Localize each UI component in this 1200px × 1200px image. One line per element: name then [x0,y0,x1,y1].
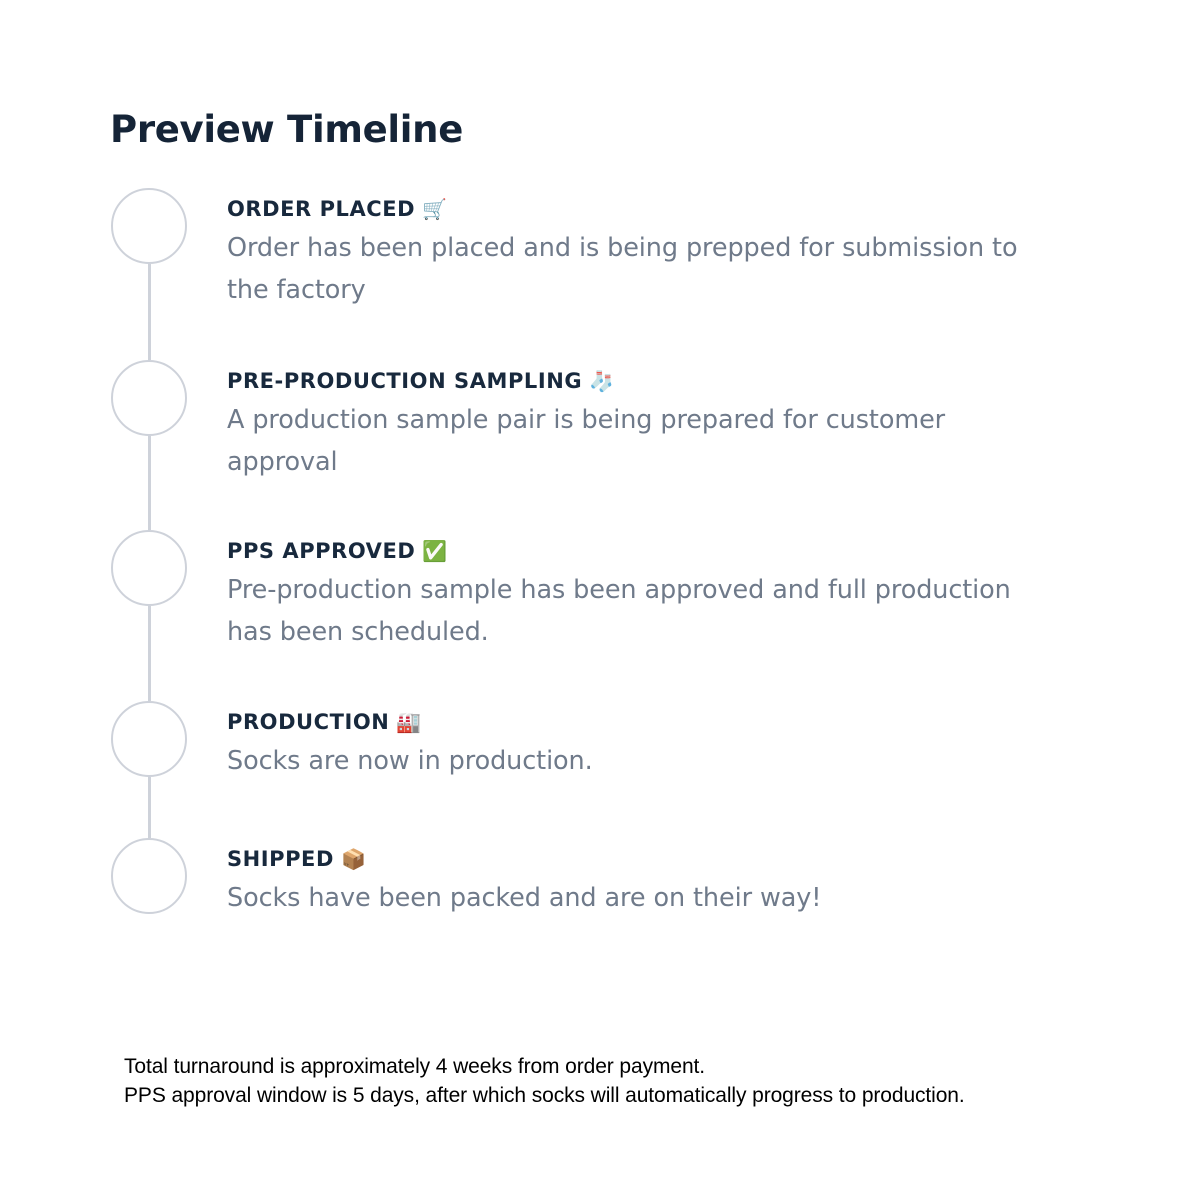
timeline-connector-line [148,436,151,530]
timeline-step-circle[interactable] [111,701,187,777]
timeline-item-heading: PRODUCTION🏭 [227,701,1110,734]
white-check-mark-emoji: ✅ [422,539,447,563]
timeline-connector-line [148,777,151,838]
timeline-item-body: ORDER PLACED🛒 Order has been placed and … [227,188,1110,311]
timeline-step-circle[interactable] [111,188,187,264]
timeline-connector-line [148,606,151,701]
timeline-item-body: PRODUCTION🏭 Socks are now in production. [227,701,1110,782]
timeline-item-shipped[interactable]: SHIPPED📦 Socks have been packed and are … [110,838,1110,918]
shopping-cart-emoji: 🛒 [422,197,447,221]
timeline-step-circle[interactable] [111,838,187,914]
timeline-item-body: PRE-PRODUCTION SAMPLING🧦 A production sa… [227,360,1110,483]
footer-line-turnaround: Total turnaround is approximately 4 week… [124,1052,965,1081]
timeline-item-description: A production sample pair is being prepar… [227,399,1057,483]
timeline-item-heading-label: PRE-PRODUCTION SAMPLING [227,369,582,393]
timeline-item-heading: PPS APPROVED✅ [227,530,1110,563]
timeline-item-pps-approved[interactable]: PPS APPROVED✅ Pre-production sample has … [110,530,1110,701]
timeline-item-heading: PRE-PRODUCTION SAMPLING🧦 [227,360,1110,393]
timeline-item-heading: ORDER PLACED🛒 [227,188,1110,221]
timeline-item-description: Socks are now in production. [227,740,1057,782]
timeline-item-heading-label: SHIPPED [227,847,334,871]
timeline-list: ORDER PLACED🛒 Order has been placed and … [110,188,1110,918]
timeline-item-description: Order has been placed and is being prepp… [227,227,1057,311]
timeline-item-production[interactable]: PRODUCTION🏭 Socks are now in production. [110,701,1110,838]
timeline-item-heading-label: PPS APPROVED [227,539,415,563]
page-title: Preview Timeline [110,111,463,148]
package-emoji: 📦 [341,847,366,871]
timeline-item-heading-label: ORDER PLACED [227,197,415,221]
timeline-item-body: PPS APPROVED✅ Pre-production sample has … [227,530,1110,653]
timeline-step-circle[interactable] [111,530,187,606]
timeline-item-body: SHIPPED📦 Socks have been packed and are … [227,838,1110,919]
footer-note: Total turnaround is approximately 4 week… [124,1052,965,1110]
timeline-item-heading: SHIPPED📦 [227,838,1110,871]
timeline-item-heading-label: PRODUCTION [227,710,389,734]
socks-emoji: 🧦 [589,369,614,393]
timeline-item-description: Pre-production sample has been approved … [227,569,1057,653]
timeline-step-circle[interactable] [111,360,187,436]
preview-timeline-page: Preview Timeline ORDER PLACED🛒 Order has… [0,0,1200,1200]
footer-line-pps-window: PPS approval window is 5 days, after whi… [124,1081,965,1110]
factory-emoji: 🏭 [396,710,421,734]
timeline-item-pre-production-sampling[interactable]: PRE-PRODUCTION SAMPLING🧦 A production sa… [110,360,1110,530]
timeline-item-order-placed[interactable]: ORDER PLACED🛒 Order has been placed and … [110,188,1110,360]
timeline-item-description: Socks have been packed and are on their … [227,877,1057,919]
timeline-connector-line [148,264,151,360]
